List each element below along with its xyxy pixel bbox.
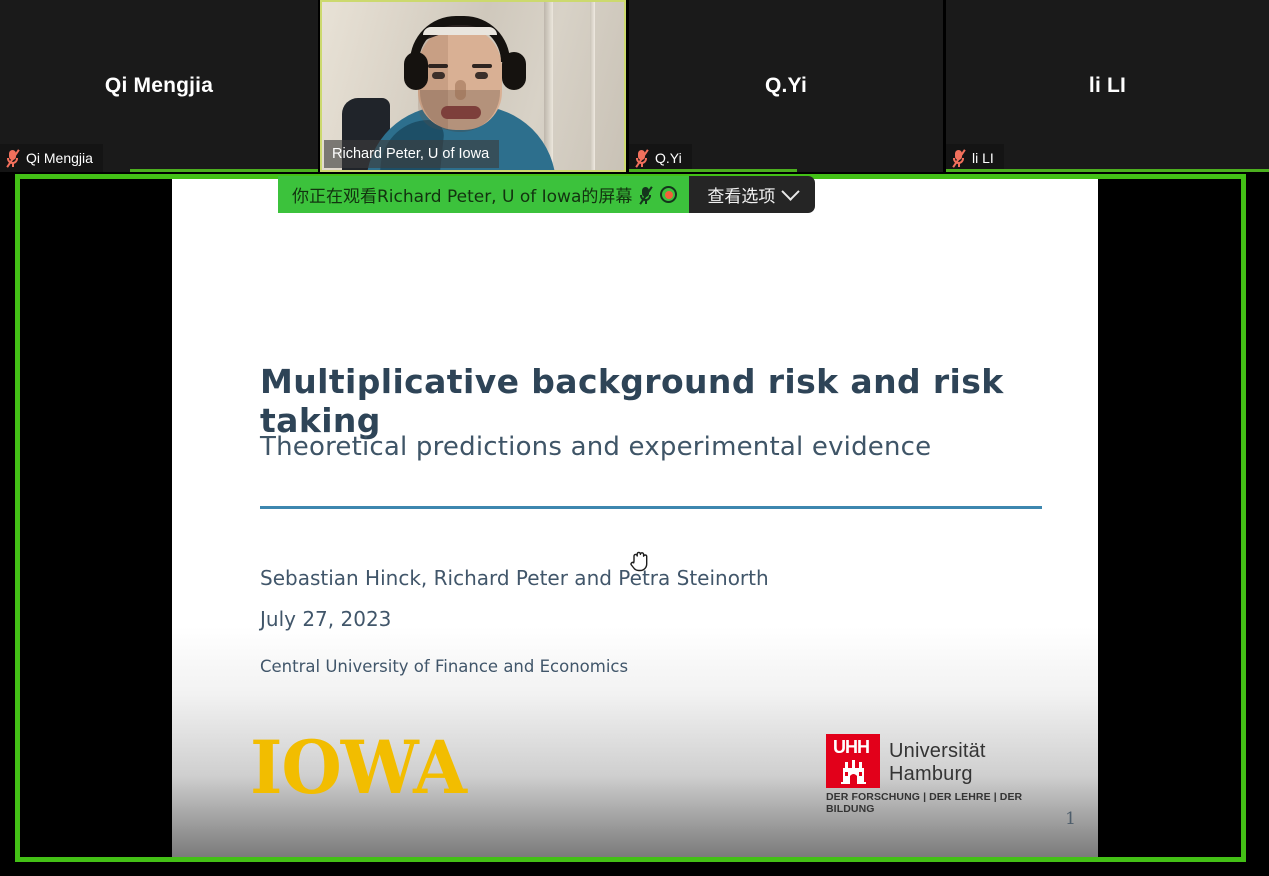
uhh-wordmark: Universität Hamburg — [889, 740, 1058, 788]
uhh-motto: DER FORSCHUNG | DER LEHRE | DER BILDUNG — [826, 791, 1058, 815]
zoom-meeting-window: Qi Mengjia Qi Mengjia — [0, 0, 1269, 876]
slide-divider-rule — [260, 506, 1042, 509]
active-speaker-video[interactable]: Richard Peter, U of Iowa — [320, 0, 626, 172]
universitaet-hamburg-logo: UHH Universität Hamburg — [826, 734, 1058, 815]
door-edge — [590, 2, 595, 170]
participant-badge-label: Qi Mengjia — [26, 150, 93, 166]
tile-divider — [943, 0, 945, 172]
view-options-button[interactable]: 查看选项 — [689, 176, 815, 213]
screen-share-notification-bar: 你正在观看Richard Peter, U of Iowa的屏幕 查看选项 — [278, 176, 815, 213]
eye-left — [432, 72, 445, 79]
participant-filmstrip: Qi Mengjia Qi Mengjia — [0, 0, 1269, 172]
slide-subtitle: Theoretical predictions and experimental… — [260, 432, 1060, 462]
participant-badge-label: Q.Yi — [655, 150, 682, 166]
grab-hand-cursor — [628, 548, 652, 574]
mic-muted-icon — [635, 149, 649, 167]
tile-divider — [318, 0, 320, 172]
mic-muted-icon — [952, 149, 966, 167]
nose — [455, 80, 466, 100]
slide-date: July 27, 2023 — [260, 607, 391, 631]
participant-tile-qi-mengjia[interactable]: Qi Mengjia Qi Mengjia — [0, 0, 318, 172]
eyebrow-left — [428, 64, 448, 68]
mouth — [441, 106, 481, 119]
speaking-indicator-bar — [130, 169, 318, 172]
share-status-label: 你正在观看Richard Peter, U of Iowa的屏幕 — [292, 182, 632, 207]
share-status-pill: 你正在观看Richard Peter, U of Iowa的屏幕 — [278, 176, 689, 213]
headphone-earcup-left — [404, 52, 428, 90]
participant-display-name: li LI — [946, 74, 1269, 98]
mic-muted-icon — [6, 149, 20, 167]
slide-authors: Sebastian Hinck, Richard Peter and Petra… — [260, 566, 769, 590]
speaking-indicator-bar — [629, 169, 797, 172]
participant-badge-label: li LI — [972, 150, 994, 166]
slide-page-number: 1 — [1065, 809, 1076, 829]
wall-edge — [544, 2, 553, 170]
participant-display-name: Qi Mengjia — [0, 74, 318, 98]
participant-display-name: Q.Yi — [629, 74, 943, 98]
tile-divider — [626, 0, 628, 172]
participant-name-badge: Q.Yi — [629, 144, 692, 172]
shared-screen-frame: Multiplicative background risk and risk … — [15, 174, 1246, 862]
uhh-mark-icon: UHH — [826, 734, 880, 788]
view-options-label: 查看选项 — [707, 182, 775, 207]
participant-tile-q-yi[interactable]: Q.Yi Q.Yi — [629, 0, 943, 172]
uhh-letters: UHH — [833, 737, 869, 758]
iowa-logo: IOWA — [250, 732, 466, 805]
participant-name-badge: li LI — [946, 144, 1004, 172]
speaking-indicator-bar — [946, 169, 1269, 172]
record-indicator-icon[interactable] — [660, 186, 677, 203]
slide-affiliation: Central University of Finance and Econom… — [260, 657, 628, 676]
presentation-slide[interactable]: Multiplicative background risk and risk … — [172, 179, 1098, 857]
hamburg-gate-icon — [841, 760, 866, 784]
headphone-earcup-right — [502, 52, 526, 90]
eye-right — [475, 72, 488, 79]
slide-title: Multiplicative background risk and risk … — [260, 362, 1060, 440]
chevron-down-icon — [782, 182, 800, 200]
active-speaker-name-badge: Richard Peter, U of Iowa — [324, 140, 499, 168]
participant-badge-label: Richard Peter, U of Iowa — [332, 146, 489, 162]
participant-tile-li-li[interactable]: li LI li LI — [946, 0, 1269, 172]
mic-muted-icon[interactable] — [639, 186, 653, 204]
participant-name-badge: Qi Mengjia — [0, 144, 103, 172]
eyebrow-right — [472, 64, 492, 68]
